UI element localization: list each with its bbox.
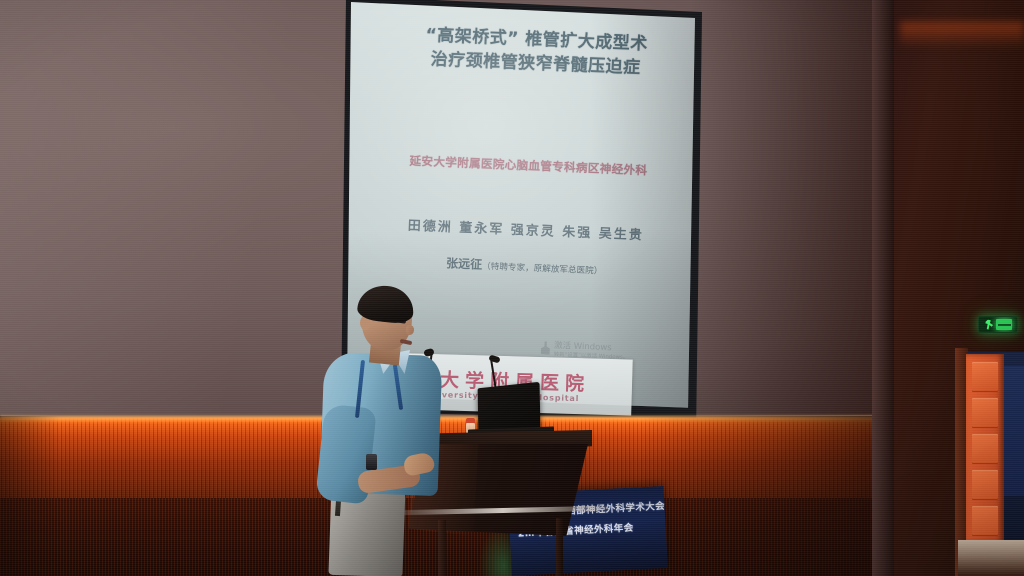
presenter-nose xyxy=(406,325,414,335)
running-person-icon xyxy=(985,320,994,330)
wall-light-sheen xyxy=(0,0,350,424)
right-wall-corner-edge xyxy=(872,0,894,576)
wall-right-shadow xyxy=(690,0,880,424)
presenter xyxy=(300,286,480,576)
door-raised-panel xyxy=(972,470,998,500)
exit-sign xyxy=(978,316,1018,333)
wood-shadow-right xyxy=(640,416,880,576)
right-wall-top-glow xyxy=(900,22,1024,48)
door-raised-panel xyxy=(972,362,998,392)
lectern-leg-right xyxy=(556,518,563,576)
door-raised-panel xyxy=(972,434,998,464)
presenter-badge xyxy=(366,454,377,470)
door-raised-panel xyxy=(972,506,998,536)
open-door-panel[interactable] xyxy=(966,354,1004,544)
door-raised-panel xyxy=(972,398,998,428)
door-threshold xyxy=(958,540,1024,576)
wood-shadow-left xyxy=(0,416,60,576)
photograph-scene: “高架桥式” 椎管扩大成型术 治疗颈椎管狭窄脊髓压迫症 延安大学附属医院心脑血管… xyxy=(0,0,1024,576)
